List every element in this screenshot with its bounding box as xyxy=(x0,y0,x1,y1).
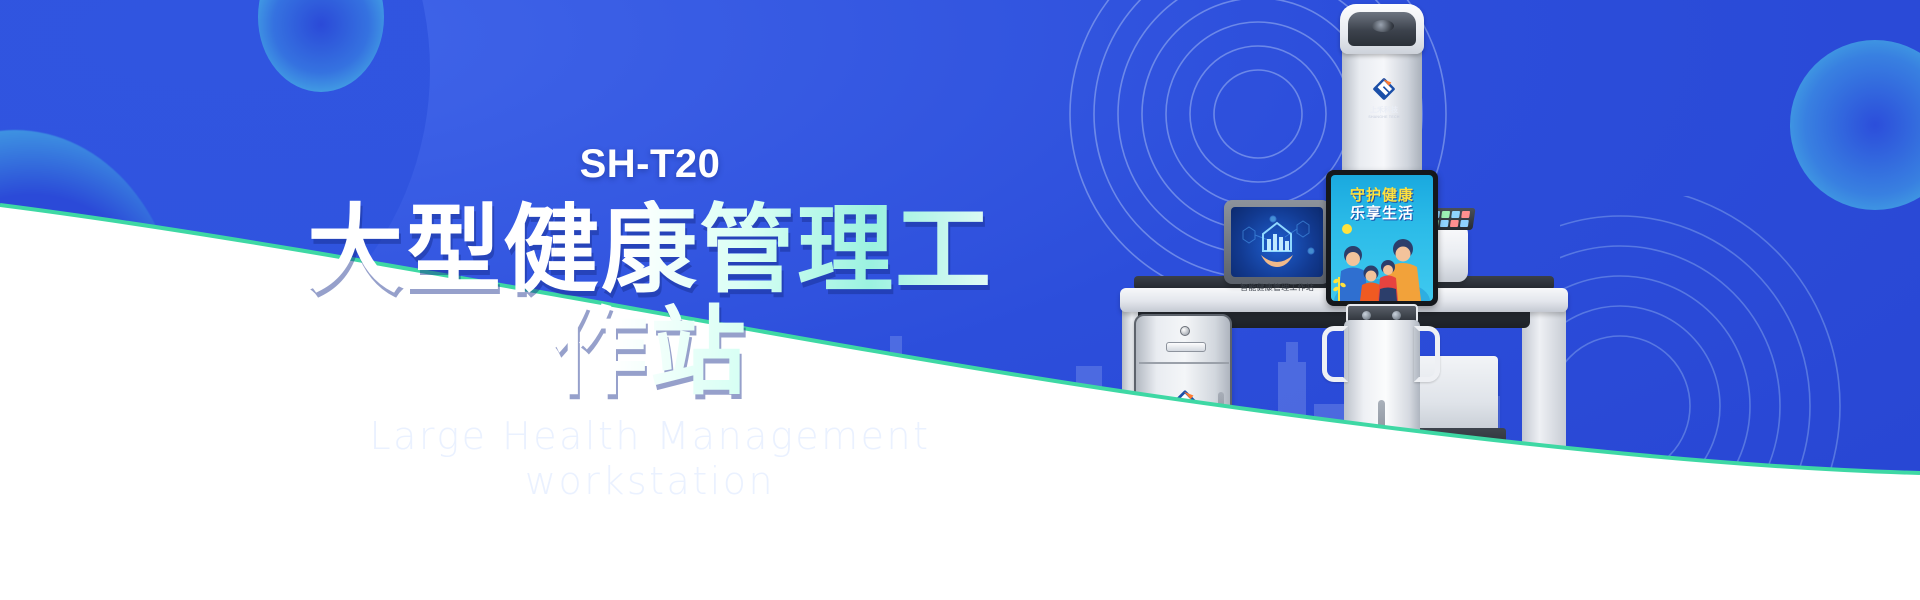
health-graphic-icon xyxy=(1231,207,1323,277)
cabinet-divider xyxy=(1139,362,1229,364)
family-illustration-icon xyxy=(1331,215,1433,301)
kiosk-advert-content: 守护健康 乐享生活 xyxy=(1331,175,1433,301)
kiosk-handle-right[interactable] xyxy=(1414,326,1440,382)
sensor-dot-left xyxy=(1362,311,1371,320)
kiosk-brand-name: 上禾科技 xyxy=(1364,107,1404,115)
product-banner: 上禾科技 SHANGHE TECH xyxy=(0,0,1920,600)
monitor-screen[interactable] xyxy=(1231,207,1323,277)
page-title: 大型健康管理工作站 xyxy=(270,200,1030,404)
cabinet-card-slot xyxy=(1166,342,1206,352)
kiosk-camera-icon xyxy=(1372,20,1394,32)
shanghe-logo-icon xyxy=(1371,76,1397,102)
kiosk-handle-left[interactable] xyxy=(1322,326,1348,382)
product-model-label: SH-T20 xyxy=(270,144,1030,184)
banner-copy: SH-T20 大型健康管理工作站 Large Health Management… xyxy=(270,144,1030,505)
kiosk-advert-display[interactable]: 守护健康 乐享生活 xyxy=(1326,170,1438,306)
page-subtitle: Large Health Management workstation xyxy=(270,414,1030,505)
health-kiosk: 上禾科技 SHANGHE TECH 守护健康 乐享生活 xyxy=(1312,4,1450,490)
kiosk-brand-sub: SHANGHE TECH xyxy=(1364,115,1404,119)
kiosk-brand-logo: 上禾科技 SHANGHE TECH xyxy=(1364,76,1404,120)
sensor-dot-right xyxy=(1392,311,1401,320)
cabinet-lock-icon xyxy=(1180,326,1190,336)
